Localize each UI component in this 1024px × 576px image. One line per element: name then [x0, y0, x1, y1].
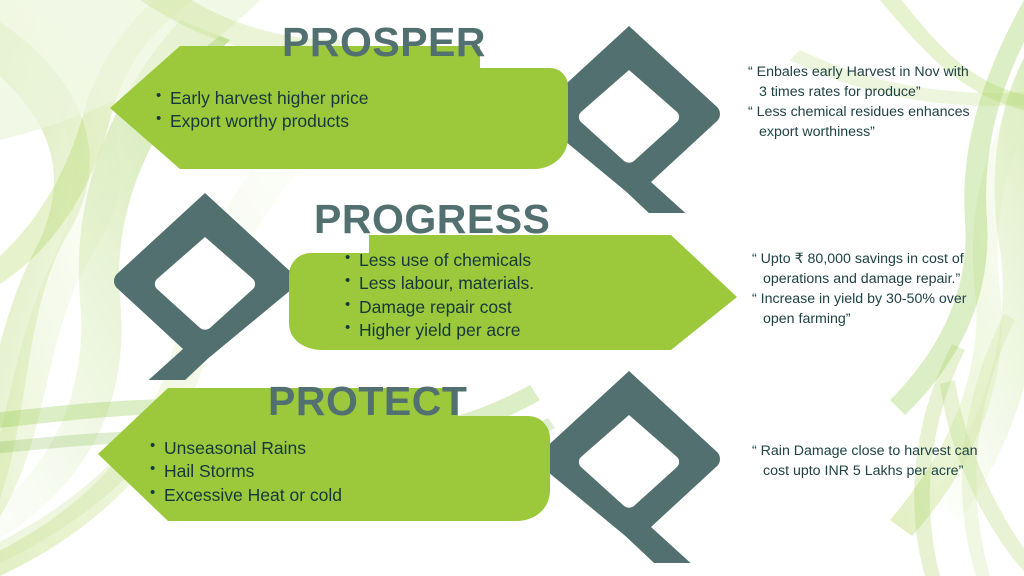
bullet-list-prosper: Early harvest higher price Export worthy…: [156, 87, 368, 134]
bullet-list-protect: Unseasonal Rains Hail Storms Excessive H…: [150, 437, 342, 507]
list-item: Unseasonal Rains: [150, 437, 342, 460]
quote-line: cost upto INR 5 Lakhs per acre”: [752, 461, 978, 481]
list-item: Higher yield per acre: [345, 319, 534, 342]
list-item: Hail Storms: [150, 460, 342, 483]
list-item: Less use of chemicals: [345, 249, 534, 272]
quote-block-protect: “ Rain Damage close to harvest can cost …: [752, 441, 978, 481]
bullet-list-progress: Less use of chemicals Less labour, mater…: [345, 249, 534, 342]
quote-line: export worthiness”: [748, 122, 970, 142]
quote-line: “ Less chemical residues enhances: [748, 102, 970, 122]
quote-block-prosper: “ Enbales early Harvest in Nov with 3 ti…: [748, 62, 970, 143]
quote-line: open farming”: [752, 309, 967, 329]
quote-line: 3 times rates for produce”: [748, 82, 970, 102]
section-heading-protect: PROTECT: [268, 381, 467, 422]
list-item: Excessive Heat or cold: [150, 484, 342, 507]
quote-line: “ Enbales early Harvest in Nov with: [748, 62, 970, 82]
list-item: Export worthy products: [156, 110, 368, 133]
quote-line: “ Upto ₹ 80,000 savings in cost of: [752, 249, 967, 269]
section-heading-progress: PROGRESS: [314, 199, 550, 240]
list-item: Less labour, materials.: [345, 272, 534, 295]
diamond-q-icon-progress: [110, 185, 300, 385]
quote-line: “ Increase in yield by 30-50% over: [752, 289, 967, 309]
diamond-q-icon-protect: [534, 363, 724, 568]
section-heading-prosper: PROSPER: [282, 22, 486, 63]
list-item: Damage repair cost: [345, 296, 534, 319]
quote-line: “ Rain Damage close to harvest can: [752, 441, 978, 461]
quote-block-progress: “ Upto ₹ 80,000 savings in cost of opera…: [752, 249, 967, 330]
list-item: Early harvest higher price: [156, 87, 368, 110]
quote-line: operations and damage repair.”: [752, 269, 967, 289]
slide-canvas: PROSPER Early harvest higher price Expor…: [0, 0, 1024, 576]
